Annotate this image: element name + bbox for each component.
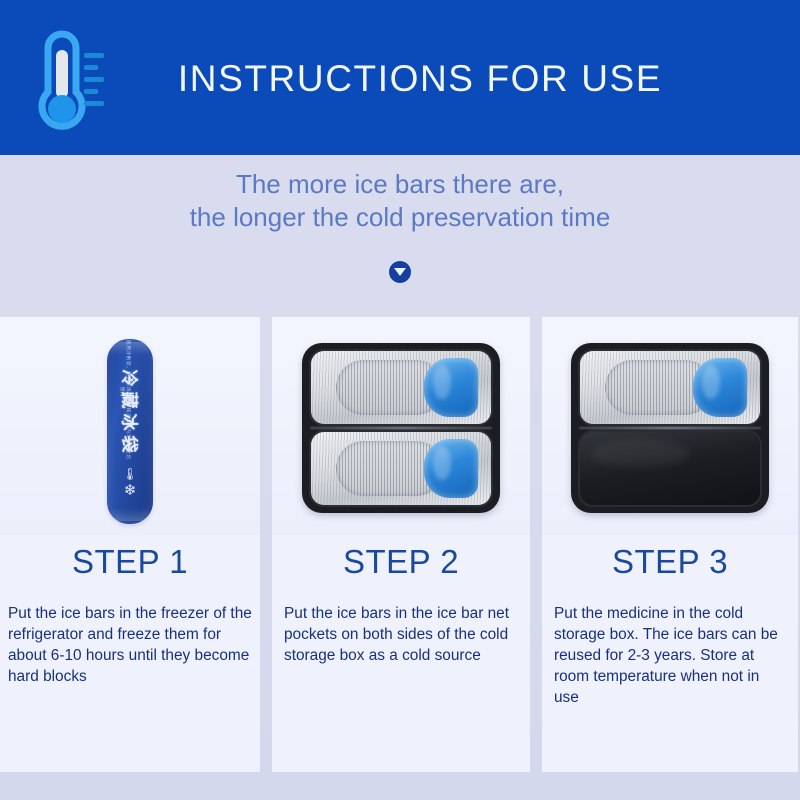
step-body-2: Put the ice bars in the ice bar net pock… bbox=[272, 581, 530, 666]
step-title-3: STEP 3 bbox=[542, 543, 798, 581]
ice-bar-bottom-seal bbox=[111, 508, 149, 521]
ice-bar-in-pocket bbox=[424, 439, 478, 497]
ice-bar-in-pocket bbox=[693, 358, 747, 416]
page-title: INSTRUCTIONS FOR USE bbox=[130, 58, 710, 100]
case-base bbox=[578, 430, 762, 507]
chevron-down-icon bbox=[389, 261, 411, 283]
cold-storage-box-with-medicine-photo bbox=[542, 317, 798, 535]
step-body-1: Put the ice bars in the freezer of the r… bbox=[0, 581, 260, 687]
step-title-1: STEP 1 bbox=[0, 543, 260, 581]
ice-bar-illustration: 冷藏冰袋 本品为医用冷敷袋，使用前请置于冰箱冷冻室内冷冻成型后使用 🌡 ❄ bbox=[107, 339, 153, 524]
ice-bar-in-pocket bbox=[424, 358, 478, 416]
case-base bbox=[309, 430, 493, 507]
ice-bar-thermometer-icon: 🌡 bbox=[122, 468, 137, 480]
cold-storage-box-open-photo bbox=[272, 317, 530, 535]
subtitle-block: The more ice bars there are, the longer … bbox=[0, 168, 800, 234]
cold-storage-case-illustration bbox=[571, 343, 769, 513]
snowflake-icon: ❄ bbox=[124, 483, 137, 498]
instructions-page: INSTRUCTIONS FOR USE The more ice bars t… bbox=[0, 0, 800, 800]
step-card-1: 冷藏冰袋 本品为医用冷敷袋，使用前请置于冰箱冷冻室内冷冻成型后使用 🌡 ❄ ST… bbox=[0, 317, 260, 772]
step-card-3: STEP 3 Put the medicine in the cold stor… bbox=[542, 317, 798, 772]
subtitle-line-2: the longer the cold preservation time bbox=[0, 201, 800, 234]
ice-bar-fineprint-cn: 本品为医用冷敷袋，使用前请置于冰箱冷冻室内冷冻成型后使用 bbox=[119, 339, 131, 462]
header-banner: INSTRUCTIONS FOR USE bbox=[0, 0, 800, 155]
ice-bar-photo: 冷藏冰袋 本品为医用冷敷袋，使用前请置于冰箱冷冻室内冷冻成型后使用 🌡 ❄ bbox=[0, 317, 260, 535]
steps-row: 冷藏冰袋 本品为医用冷敷袋，使用前请置于冰箱冷冻室内冷冻成型后使用 🌡 ❄ ST… bbox=[0, 317, 800, 772]
step-card-2: STEP 2 Put the ice bars in the ice bar n… bbox=[272, 317, 530, 772]
case-lid bbox=[309, 349, 493, 426]
subtitle-line-1: The more ice bars there are, bbox=[0, 168, 800, 201]
step-title-2: STEP 2 bbox=[272, 543, 530, 581]
medicine-pouch bbox=[580, 432, 760, 505]
case-lid bbox=[578, 349, 762, 426]
cold-storage-case-illustration bbox=[302, 343, 500, 513]
chevron-down-glyph bbox=[394, 268, 406, 276]
thermometer-icon bbox=[14, 28, 112, 138]
step-body-3: Put the medicine in the cold storage box… bbox=[542, 581, 798, 708]
